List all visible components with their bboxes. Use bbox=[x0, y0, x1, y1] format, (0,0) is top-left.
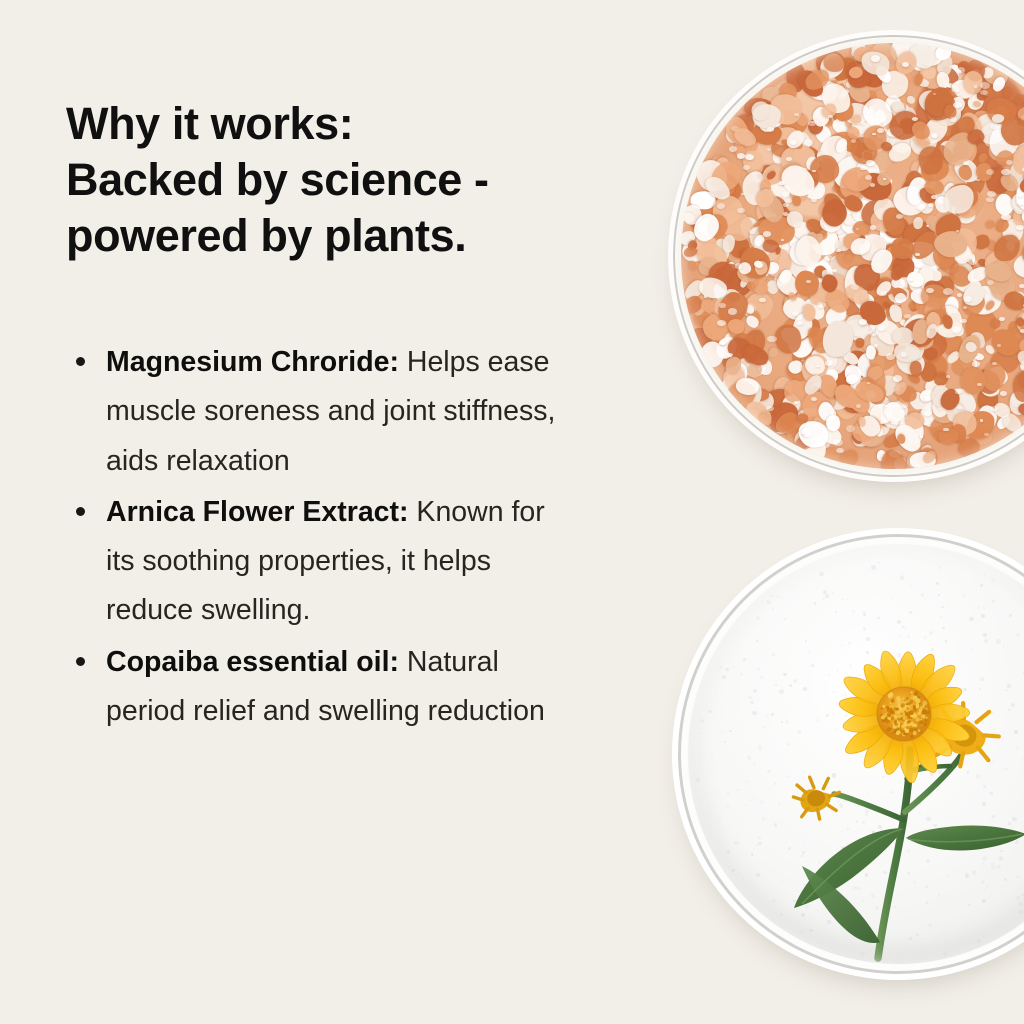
benefit-term: Arnica Flower Extract: bbox=[106, 496, 409, 528]
bullet-icon bbox=[76, 357, 85, 366]
page-title: Why it works: Backed by science - powere… bbox=[66, 96, 606, 263]
benefit-term: Magnesium Chroride: bbox=[106, 346, 399, 378]
arnica-flower-powder-bowl-image bbox=[672, 528, 1024, 980]
salt-crystals bbox=[681, 43, 1024, 469]
text-column: Why it works: Backed by science - powere… bbox=[66, 96, 606, 263]
pink-himalayan-salt-bowl-image bbox=[668, 30, 1024, 482]
list-item: Copaiba essential oil: Natural period re… bbox=[66, 638, 566, 737]
bullet-icon bbox=[76, 657, 85, 666]
arnica-flower-graphic bbox=[672, 528, 1024, 980]
bullet-icon bbox=[76, 507, 85, 516]
ingredient-benefits-card: Why it works: Backed by science - powere… bbox=[0, 0, 1024, 1024]
list-item: Arnica Flower Extract: Known for its soo… bbox=[66, 488, 566, 636]
benefit-term: Copaiba essential oil: bbox=[106, 646, 399, 678]
benefit-list: Magnesium Chroride: Helps ease muscle so… bbox=[66, 338, 566, 738]
list-item: Magnesium Chroride: Helps ease muscle so… bbox=[66, 338, 566, 486]
